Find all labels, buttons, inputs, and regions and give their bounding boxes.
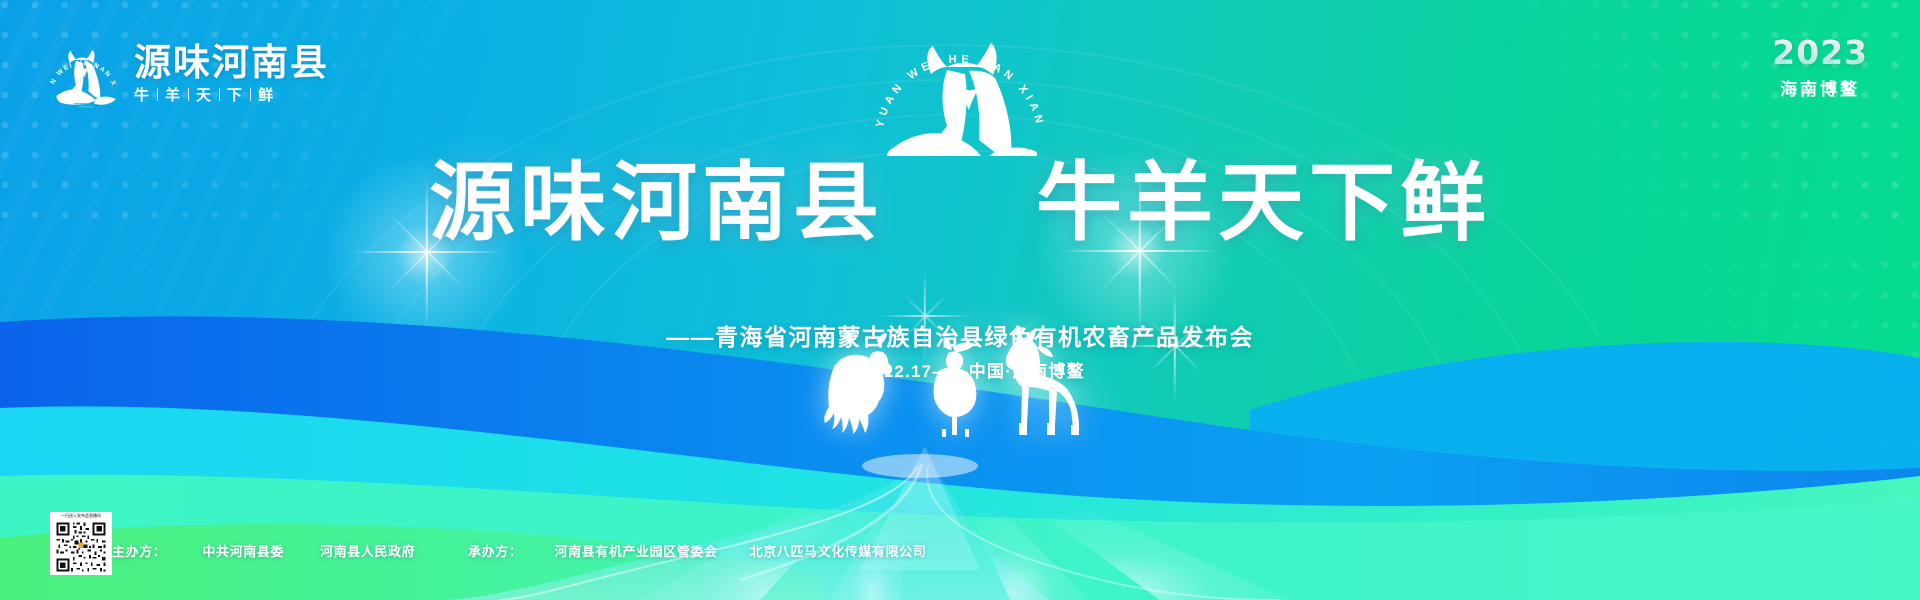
horse-silhouette (1006, 326, 1079, 435)
yak-head-emblem-icon: YUAN WEI HE NAN XIAN (44, 34, 122, 114)
brand-title: 源味河南县 (134, 44, 329, 81)
center-emblem: YUAN WEI HE NAN XIAN (865, 16, 1055, 156)
poster-canvas: YUAN WEI HE NAN XIAN 源味河南县 牛 羊 (0, 0, 1920, 600)
year-place: 海南博鳌 (1772, 75, 1868, 100)
brand-logo[interactable]: YUAN WEI HE NAN XIAN 源味河南县 牛 羊 (44, 34, 329, 114)
host-1: 河南县人民政府 (320, 541, 415, 560)
yak-silhouette (824, 330, 892, 434)
tagline-divider (219, 88, 220, 101)
tagline-divider (250, 88, 251, 101)
tagline-char-4: 鲜 (258, 84, 274, 105)
headline-left: 源味河南县 (429, 160, 884, 246)
tagline-char-0: 牛 (134, 84, 150, 105)
tagline-char-1: 羊 (165, 84, 181, 105)
headline-right: 牛羊天下鲜 (1036, 160, 1491, 246)
sheep-silhouette (934, 337, 977, 437)
animal-silhouettes (815, 325, 1105, 445)
headline-block: 源味河南县 牛羊天下鲜 (0, 160, 1920, 246)
year-number: 2023 (1772, 36, 1868, 69)
qr-code-caption: 一扫进入发布会直播间 (50, 512, 112, 519)
qr-code[interactable]: 一扫进入发布会直播间 (50, 512, 112, 575)
host-label: 主办方： (112, 541, 166, 560)
organizer-1: 北京八匹马文化传媒有限公司 (750, 541, 927, 560)
host-line: 主办方： 中共河南县委 河南县人民政府 (112, 541, 415, 560)
organizer-0: 河南县有机产业园区管委会 (554, 541, 717, 560)
organizer-line: 承办方： 河南县有机产业园区管委会 北京八匹马文化传媒有限公司 (468, 541, 926, 560)
organizer-label: 承办方： (468, 541, 522, 560)
host-0: 中共河南县委 (202, 541, 284, 560)
tagline-char-2: 天 (196, 84, 212, 105)
brand-tagline: 牛 羊 天 下 鲜 (134, 84, 329, 105)
tagline-divider (188, 88, 189, 101)
tagline-char-3: 下 (227, 84, 243, 105)
year-badge: 2023 海南博鳌 (1772, 36, 1868, 100)
tagline-divider (157, 88, 158, 101)
qr-code-image (50, 519, 112, 575)
